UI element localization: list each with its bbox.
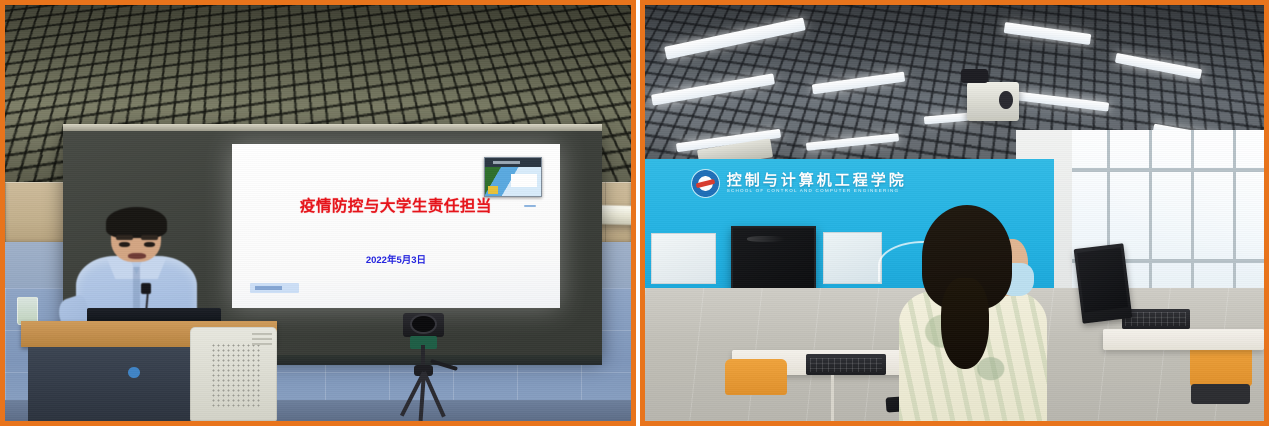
desktop-monitor-right [1074, 244, 1132, 324]
slide-date: 2022年5月3日 [232, 252, 561, 266]
keyboard [1122, 309, 1190, 330]
chair-seat [1191, 384, 1250, 404]
university-logo-icon [692, 170, 719, 197]
camera-tripod [381, 313, 469, 421]
slide-title: 疫情防控与大学生责任担当 [232, 194, 561, 216]
speaker-grille [211, 343, 262, 407]
chair-backrest [725, 359, 787, 395]
speaker-brow-right [141, 235, 157, 240]
flat-panel-display [731, 226, 817, 292]
lab-chair-front [725, 359, 787, 421]
photo-lecture-hall: 疫情防控与大学生责任担当 2022年5月3日 [0, 0, 636, 426]
clip-microphone [141, 283, 151, 293]
window-mullion [1149, 130, 1152, 305]
whiteboard-left [651, 233, 716, 284]
lecture-hall-scene: 疫情防控与大学生责任担当 2022年5月3日 [5, 5, 631, 421]
window-mullion [1191, 130, 1194, 305]
ceiling-projector [967, 82, 1020, 122]
cabinet-vent [252, 333, 273, 347]
slide-thumbnail-image [484, 157, 542, 197]
podium [21, 321, 278, 421]
photo-computer-lab: 控制与计算机工程学院 SCHOOL OF CONTROL AND COMPUTE… [640, 0, 1269, 426]
thumbnail-titlebar [485, 158, 541, 167]
slide-footer-chip [250, 283, 299, 294]
tripod-leg [422, 372, 445, 418]
tripod-pan-handle [430, 359, 458, 371]
podium-emblem [128, 367, 140, 378]
lab-desk-right [1103, 329, 1264, 350]
speaker-brow-left [116, 235, 132, 240]
keyboard [806, 354, 886, 375]
photo-pair-container: 疫情防控与大学生责任担当 2022年5月3日 [0, 0, 1269, 426]
window-transom [1072, 168, 1264, 171]
ponytail [941, 278, 989, 369]
window-mullion [1233, 130, 1236, 305]
speaker-mouth [128, 253, 146, 259]
banner-english-text: SCHOOL OF CONTROL AND COMPUTER ENGINEERI… [727, 188, 900, 193]
computer-lab-scene: 控制与计算机工程学院 SCHOOL OF CONTROL AND COMPUTE… [645, 5, 1264, 421]
projected-slide: 疫情防控与大学生责任担当 2022年5月3日 [232, 144, 561, 308]
foreground-student-back-view [893, 205, 1054, 421]
banner-chinese-text: 控制与计算机工程学院 [727, 169, 907, 190]
desk-leg [831, 375, 834, 421]
speaker-hair [106, 207, 167, 238]
thumbnail-window [511, 174, 537, 187]
whiteboard-right [823, 232, 882, 285]
lab-chair-right [1190, 338, 1252, 421]
blackboard-frame [63, 124, 601, 131]
